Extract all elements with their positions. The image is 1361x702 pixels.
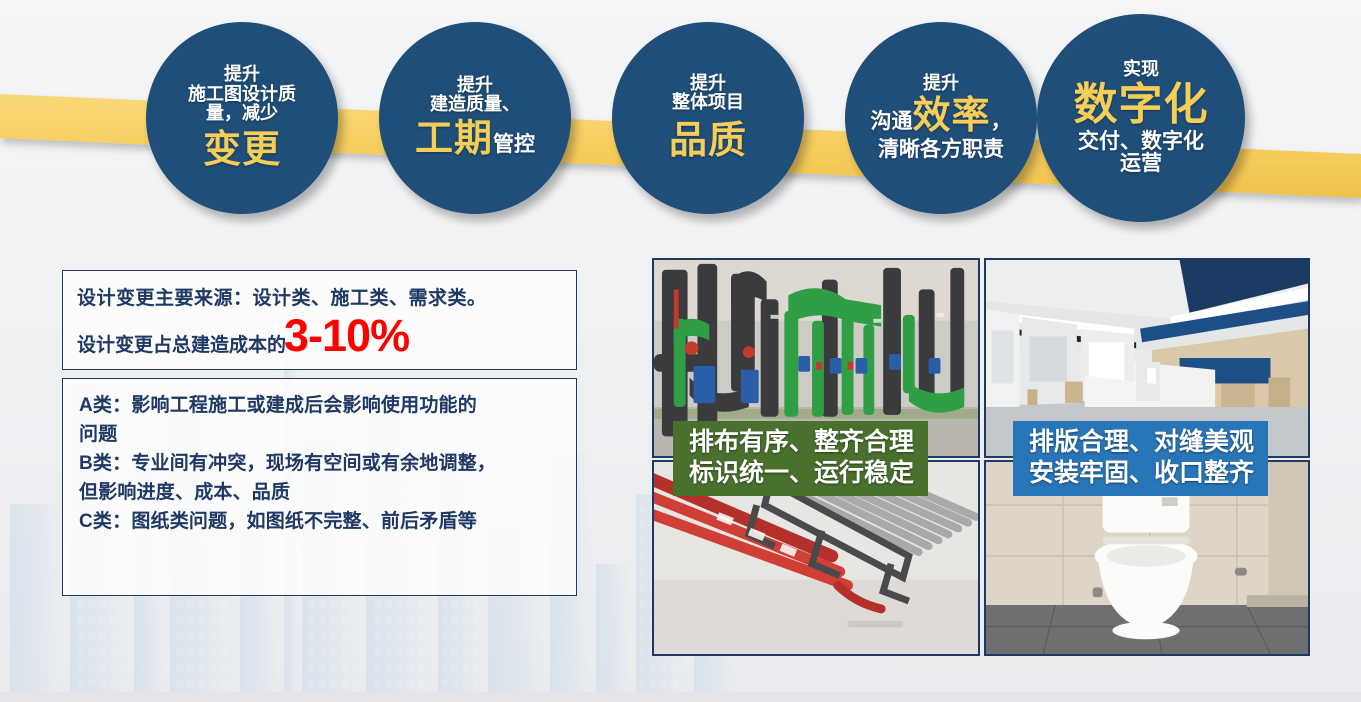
caption-finishes-line-2: 安装牢固、收口整齐 <box>1029 458 1254 489</box>
circle-5-bottom-2: 运营 <box>1120 153 1162 176</box>
circle-5-bottom-1: 交付、数字化 <box>1078 131 1204 154</box>
issue-category-line-a2: 问题 <box>79 422 562 449</box>
circle-improve-construction-quality[interactable]: 提升 建造质量、 工期 管控 <box>379 22 571 214</box>
caption-mechanical-line-2: 标识统一、运行稳定 <box>689 458 914 489</box>
circle-improve-communication-efficiency[interactable]: 提升 沟通 效率 ， 清晰各方职责 <box>845 22 1037 214</box>
circle-1-line-2: 施工图设计质 <box>188 85 296 104</box>
circle-1-line-3: 量，减少 <box>206 104 278 123</box>
design-change-source-box: 设计变更主要来源：设计类、施工类、需求类。 设计变更占总建造成本的 3-10% <box>62 270 577 370</box>
circle-5-keyword: 数字化 <box>1074 81 1209 129</box>
circle-4-line-1: 提升 <box>923 74 959 93</box>
circle-2-line-1: 提升 <box>457 76 493 95</box>
circle-5-line-1: 实现 <box>1123 60 1159 79</box>
circle-3-keyword: 品质 <box>669 121 747 162</box>
design-change-source-line: 设计变更主要来源：设计类、施工类、需求类。 <box>77 283 562 310</box>
circle-achieve-digitalization[interactable]: 实现 数字化 交付、数字化 运营 <box>1037 14 1245 222</box>
caption-finishes-line-1: 排版合理、对缝美观 <box>1029 427 1254 458</box>
circle-3-line-1: 提升 <box>690 74 726 93</box>
circle-improve-drawing-quality[interactable]: 提升 施工图设计质 量，减少 变更 <box>146 22 338 214</box>
caption-mechanical-line-1: 排布有序、整齐合理 <box>689 427 914 458</box>
issue-category-line-c1: C类：图纸类问题，如图纸不完整、前后矛盾等 <box>79 509 562 536</box>
circle-improve-project-quality[interactable]: 提升 整体项目 品质 <box>612 22 804 214</box>
circle-1-keyword: 变更 <box>203 130 281 171</box>
issue-category-box: A类：影响工程施工或建成后会影响使用功能的 问题 B类：专业间有冲突，现场有空间… <box>62 378 577 596</box>
bottom-strip <box>0 692 1361 702</box>
circle-3-line-2: 整体项目 <box>672 93 744 112</box>
circle-4-prefix: 沟通 <box>870 111 912 134</box>
issue-category-line-b2: 但影响进度、成本、品质 <box>79 480 562 507</box>
design-change-cost-label: 设计变更占总建造成本的 <box>77 330 286 357</box>
circle-1-line-1: 提升 <box>224 65 260 84</box>
caption-finishes: 排版合理、对缝美观 安装牢固、收口整齐 <box>1013 421 1268 496</box>
circle-2-keyword: 工期 <box>415 119 493 160</box>
design-change-cost-percent: 3-10% <box>284 316 409 357</box>
circle-2-suffix: 管控 <box>493 134 535 157</box>
circle-4-keyword: 效率 <box>912 96 990 137</box>
circle-4-suffix: ， <box>991 111 1012 134</box>
issue-category-line-a1: A类：影响工程施工或建成后会影响使用功能的 <box>79 393 562 420</box>
circle-4-bottom: 清晰各方职责 <box>878 139 1004 162</box>
caption-mechanical: 排布有序、整齐合理 标识统一、运行稳定 <box>673 421 928 496</box>
circle-2-line-2: 建造质量、 <box>430 95 520 114</box>
issue-category-line-b1: B类：专业间有冲突，现场有空间或有余地调整， <box>79 451 562 478</box>
